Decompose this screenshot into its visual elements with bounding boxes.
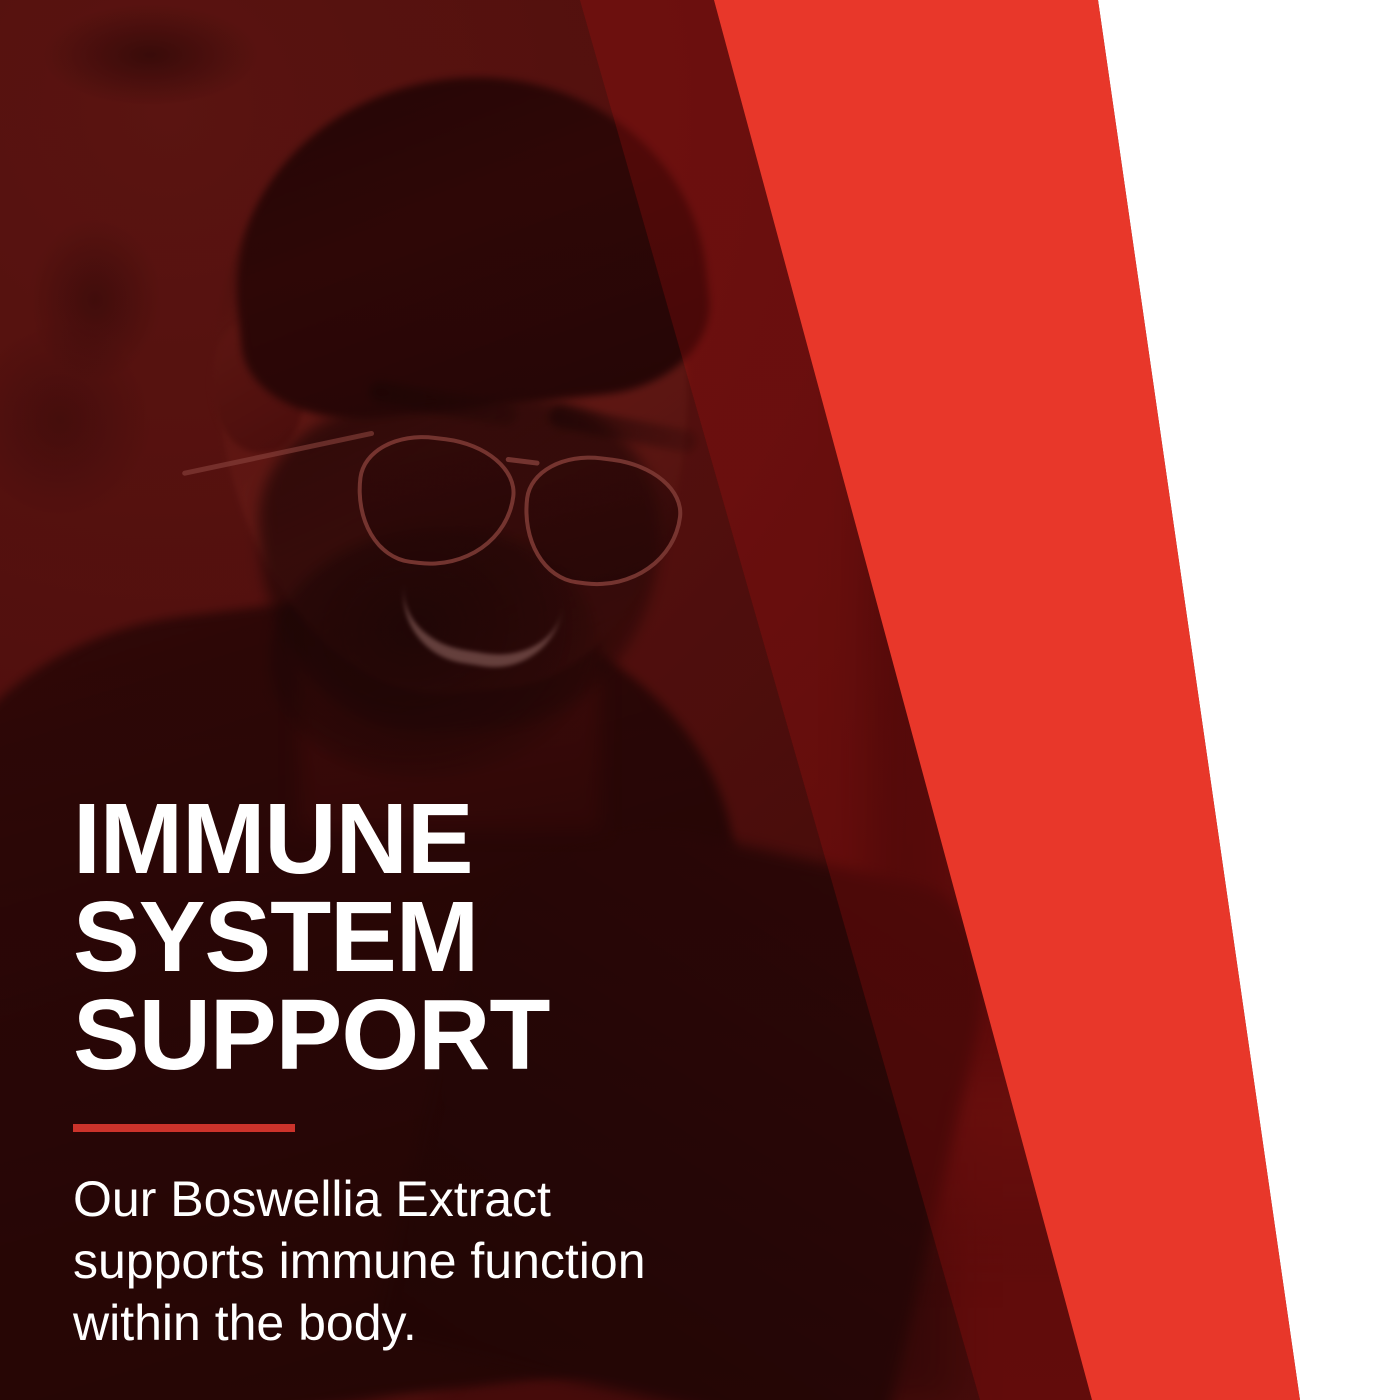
text-block: IMMUNE SYSTEM SUPPORT Our Boswellia Extr… bbox=[73, 790, 853, 1354]
body-line-3: within the body. bbox=[73, 1292, 853, 1354]
headline-line-1: IMMUNE SYSTEM bbox=[73, 783, 478, 993]
page-title: IMMUNE SYSTEM SUPPORT bbox=[73, 790, 853, 1084]
promo-graphic: IMMUNE SYSTEM SUPPORT Our Boswellia Extr… bbox=[0, 0, 1400, 1400]
body-line-1: Our Boswellia Extract bbox=[73, 1168, 853, 1230]
accent-rule bbox=[73, 1124, 295, 1132]
body-line-2: supports immune function bbox=[73, 1230, 853, 1292]
headline-line-2: SUPPORT bbox=[73, 979, 549, 1091]
body-copy: Our Boswellia Extract supports immune fu… bbox=[73, 1168, 853, 1354]
